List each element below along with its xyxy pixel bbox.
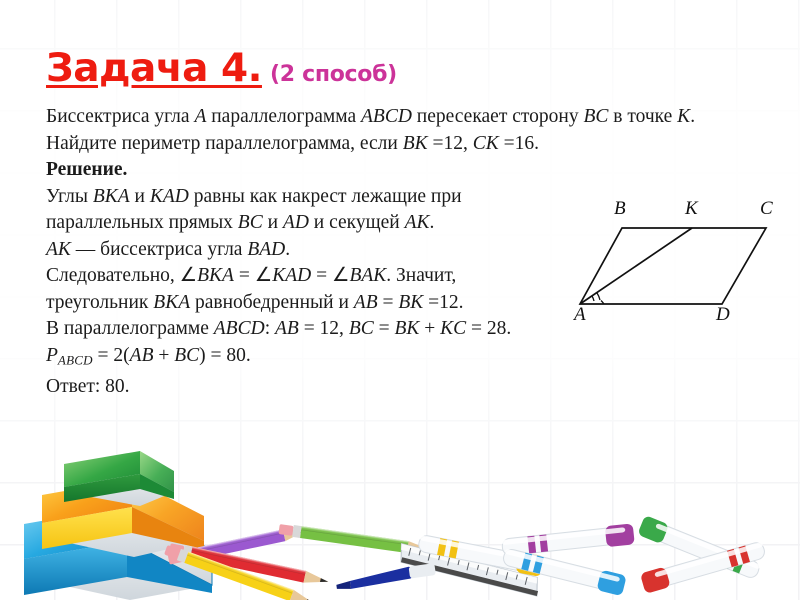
var-ab: AB	[354, 292, 378, 313]
text-run: В параллелограмме	[46, 318, 214, 339]
text-run: = 2(	[93, 345, 130, 366]
text-run: параллельных прямых	[46, 212, 238, 233]
text-run: +	[419, 318, 440, 339]
text-run: =16.	[499, 133, 539, 154]
solution-line-3: AK — биссектриса угла BAD.	[46, 237, 606, 264]
var-bc: BC	[349, 318, 374, 339]
var-bk: BK	[403, 133, 428, 154]
var-bk: BK	[398, 292, 423, 313]
var-ak: AK	[46, 239, 71, 260]
figure-label-a: A	[574, 304, 586, 326]
pen-blue-ballpoint	[335, 563, 436, 591]
figure-label-b: B	[614, 198, 626, 220]
title-main-text: Задача 4.	[46, 46, 262, 91]
var-bc: BC	[583, 106, 608, 127]
text-run: +	[154, 345, 175, 366]
angle-arc-inner	[592, 296, 594, 301]
bisector-segment-ak	[580, 228, 692, 304]
text-run: и секущей	[309, 212, 405, 233]
slide-canvas: Задача 4.(2 способ) Биссектриса угла A п…	[0, 0, 800, 600]
var-bc: BC	[174, 345, 199, 366]
text-run: Следовательно, ∠	[46, 265, 197, 286]
var-p: P	[46, 345, 58, 366]
figure-label-d: D	[716, 304, 730, 326]
solution-line-5: треугольник BKA равнобедренный и AB = BK…	[46, 290, 606, 317]
answer-label: Ответ:	[46, 376, 100, 397]
var-ck: CK	[473, 133, 499, 154]
stationery-illustration	[150, 512, 800, 600]
text-run: равнобедренный и	[190, 292, 354, 313]
text-run: = ∠	[234, 265, 272, 286]
text-run: равны как накрест лежащие при	[189, 186, 462, 207]
var-kc: KC	[440, 318, 466, 339]
figure-label-k: K	[685, 198, 698, 220]
problem-line-1: Биссектриса угла A параллелограмма ABCD …	[46, 104, 606, 131]
var-ab: AB	[275, 318, 299, 339]
solution-line-7-perimeter: PABCD = 2(AB + BC) = 80.	[46, 343, 606, 374]
text-run: .	[690, 106, 695, 127]
text-run: пересекает сторону	[412, 106, 584, 127]
text-run: . Значит,	[386, 265, 456, 286]
var-bka: BKA	[153, 292, 190, 313]
page-title: Задача 4.(2 способ)	[46, 46, 397, 91]
solution-heading: Решение.	[46, 157, 606, 184]
var-ad: AD	[283, 212, 309, 233]
text-run: и	[263, 212, 283, 233]
var-a: A	[194, 106, 206, 127]
answer-value: 80.	[105, 376, 129, 397]
var-ab: AB	[130, 345, 154, 366]
problem-solution-text: Биссектриса угла A параллелограмма ABCD …	[46, 104, 606, 400]
var-bc: BC	[238, 212, 263, 233]
text-run: .	[285, 239, 290, 260]
parallelogram-outline	[580, 228, 766, 304]
text-run: Углы	[46, 186, 93, 207]
stationery-svg	[150, 512, 800, 600]
angle-arc-bak	[597, 293, 600, 300]
book-green	[64, 451, 174, 506]
text-run: =	[378, 292, 399, 313]
text-run: Найдите периметр параллелограмма, если	[46, 133, 403, 154]
var-kad: KAD	[150, 186, 189, 207]
text-run: =	[374, 318, 395, 339]
text-run: = ∠	[311, 265, 349, 286]
text-run: ) = 80.	[199, 345, 251, 366]
var-bk: BK	[394, 318, 419, 339]
text-run: = 28.	[466, 318, 511, 339]
var-kad: KAD	[272, 265, 311, 286]
var-bka: BKA	[93, 186, 130, 207]
title-sub-text: (2 способ)	[270, 62, 397, 87]
text-run: = 12,	[299, 318, 349, 339]
text-run: =12.	[423, 292, 463, 313]
var-k: K	[677, 106, 690, 127]
var-abcd: ABCD	[214, 318, 265, 339]
text-run: .	[430, 212, 435, 233]
text-run: и	[130, 186, 150, 207]
text-run: :	[265, 318, 275, 339]
text-run: параллелограмма	[206, 106, 361, 127]
text-run: Биссектриса угла	[46, 106, 194, 127]
text-run: — биссектриса угла	[71, 239, 247, 260]
solution-line-2: параллельных прямых BC и AD и секущей AK…	[46, 210, 606, 237]
figure-label-c: C	[760, 198, 773, 220]
var-ak: AK	[405, 212, 430, 233]
var-bak: BAK	[349, 265, 386, 286]
solution-line-4: Следовательно, ∠BKA = ∠KAD = ∠BAK. Значи…	[46, 263, 606, 290]
text-run: =12,	[428, 133, 473, 154]
var-abcd: ABCD	[361, 106, 412, 127]
geometry-figure: B K C A D	[570, 196, 795, 331]
answer-line: Ответ: 80.	[46, 374, 606, 401]
var-bad: BAD	[247, 239, 285, 260]
solution-line-1: Углы BKA и KAD равны как накрест лежащие…	[46, 184, 606, 211]
solution-line-6: В параллелограмме ABCD: AB = 12, BC = BK…	[46, 316, 606, 343]
subscript-abcd: ABCD	[58, 352, 93, 367]
text-run: в точке	[608, 106, 677, 127]
problem-line-2: Найдите периметр параллелограмма, если B…	[46, 131, 606, 158]
text-run: треугольник	[46, 292, 153, 313]
var-bka: BKA	[197, 265, 234, 286]
